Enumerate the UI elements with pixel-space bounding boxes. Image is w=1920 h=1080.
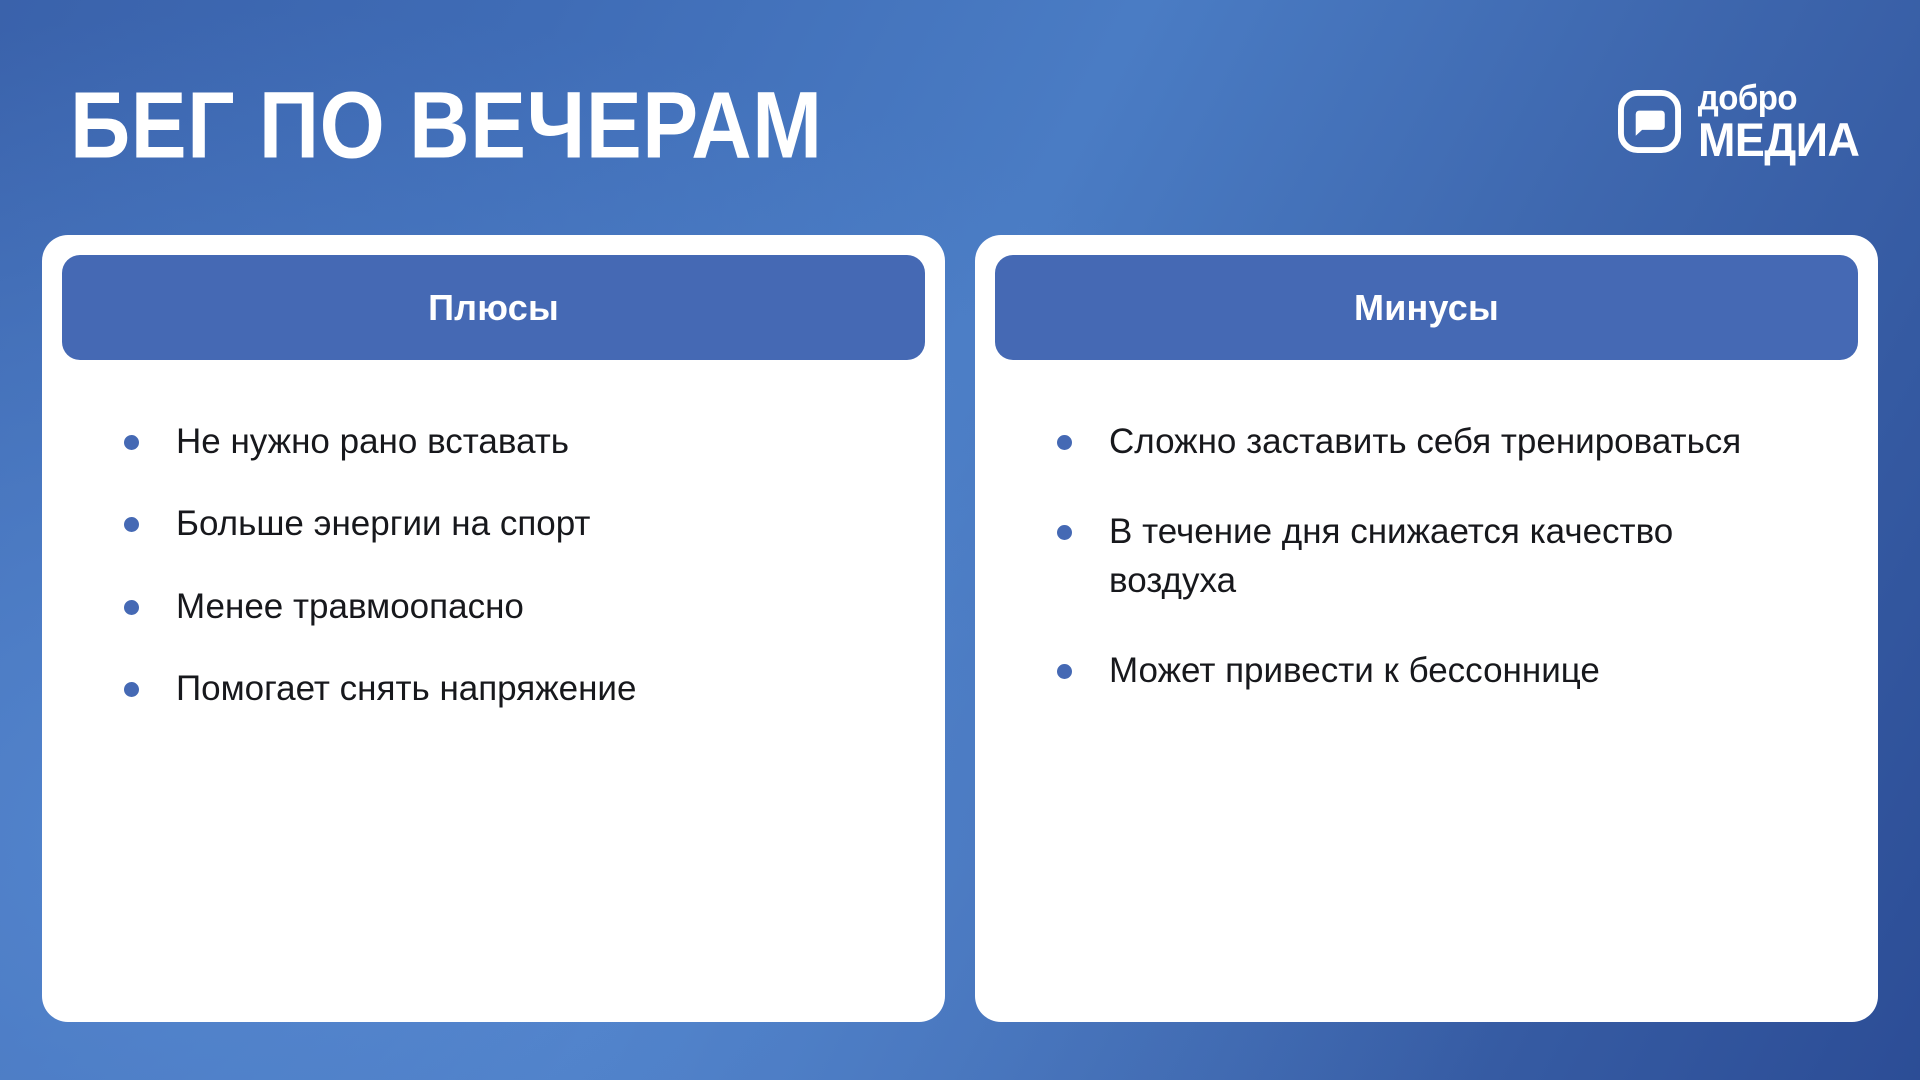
poster-header: БЕГ ПО ВЕЧЕРАМ добро МЕДИА <box>0 0 1920 235</box>
list-item-label: В течение дня снижается качество воздуха <box>1109 512 1673 599</box>
list-item-label: Сложно заставить себя тренироваться <box>1109 422 1741 461</box>
bullet-dot-icon <box>1057 664 1072 679</box>
cons-list: Сложно заставить себя тренироваться В те… <box>1057 418 1768 695</box>
cons-card-body: Сложно заставить себя тренироваться В те… <box>995 360 1858 1022</box>
list-item-label: Помогает снять напряжение <box>176 669 636 708</box>
bullet-dot-icon <box>124 517 139 532</box>
cons-card-title: Минусы <box>1354 287 1499 329</box>
bullet-dot-icon <box>124 600 139 615</box>
list-item-label: Больше энергии на спорт <box>176 504 590 543</box>
list-item-label: Не нужно рано вставать <box>176 422 569 461</box>
pros-card-header: Плюсы <box>62 255 925 360</box>
list-item-label: Менее травмоопасно <box>176 587 524 626</box>
pros-card: Плюсы Не нужно рано вставать Больше энер… <box>42 235 945 1022</box>
list-item-label: Может привести к бессоннице <box>1109 651 1600 690</box>
list-item: В течение дня снижается качество воздуха <box>1057 508 1768 605</box>
infographic-poster: БЕГ ПО ВЕЧЕРАМ добро МЕДИА Плюсы <box>0 0 1920 1080</box>
bullet-dot-icon <box>1057 435 1072 450</box>
cons-card: Минусы Сложно заставить себя тренировать… <box>975 235 1878 1022</box>
list-item: Не нужно рано вставать <box>124 418 891 466</box>
pros-list: Не нужно рано вставать Больше энергии на… <box>124 418 891 713</box>
brand-word-bottom: МЕДИА <box>1698 117 1859 165</box>
brand-wordmark: добро МЕДИА <box>1698 82 1856 161</box>
brand-word-top: добро <box>1698 80 1797 115</box>
bullet-dot-icon <box>1057 525 1072 540</box>
list-item: Может привести к бессоннице <box>1057 647 1768 695</box>
list-item: Помогает снять напряжение <box>124 665 891 713</box>
bullet-dot-icon <box>124 682 139 697</box>
page-title: БЕГ ПО ВЕЧЕРАМ <box>70 77 823 172</box>
cons-card-header: Минусы <box>995 255 1858 360</box>
list-item: Сложно заставить себя тренироваться <box>1057 418 1768 466</box>
pros-card-body: Не нужно рано вставать Больше энергии на… <box>62 360 925 1022</box>
speech-bubble-rounded-square-icon <box>1618 90 1681 153</box>
comparison-cards: Плюсы Не нужно рано вставать Больше энер… <box>42 235 1878 1022</box>
list-item: Менее травмоопасно <box>124 583 891 631</box>
brand-logo: добро МЕДИА <box>1618 82 1856 161</box>
list-item: Больше энергии на спорт <box>124 500 891 548</box>
pros-card-title: Плюсы <box>428 287 559 329</box>
bullet-dot-icon <box>124 435 139 450</box>
